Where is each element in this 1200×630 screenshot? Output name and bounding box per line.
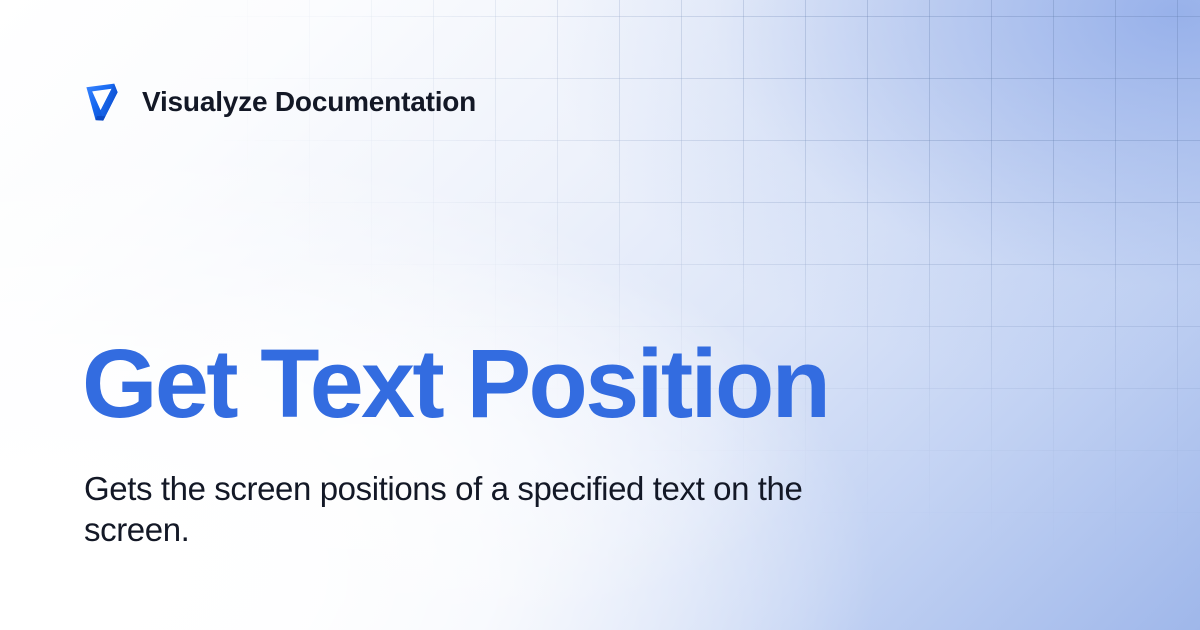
documentation-banner: Visualyze Documentation Get Text Positio… [0,0,1200,630]
page-subtitle: Gets the screen positions of a specified… [84,468,874,550]
banner-content: Visualyze Documentation Get Text Positio… [0,0,1200,630]
brand-title: Visualyze Documentation [142,88,476,116]
page-title: Get Text Position [82,335,828,432]
visualyze-v-logo-icon [84,82,120,122]
brand-header: Visualyze Documentation [84,82,476,122]
